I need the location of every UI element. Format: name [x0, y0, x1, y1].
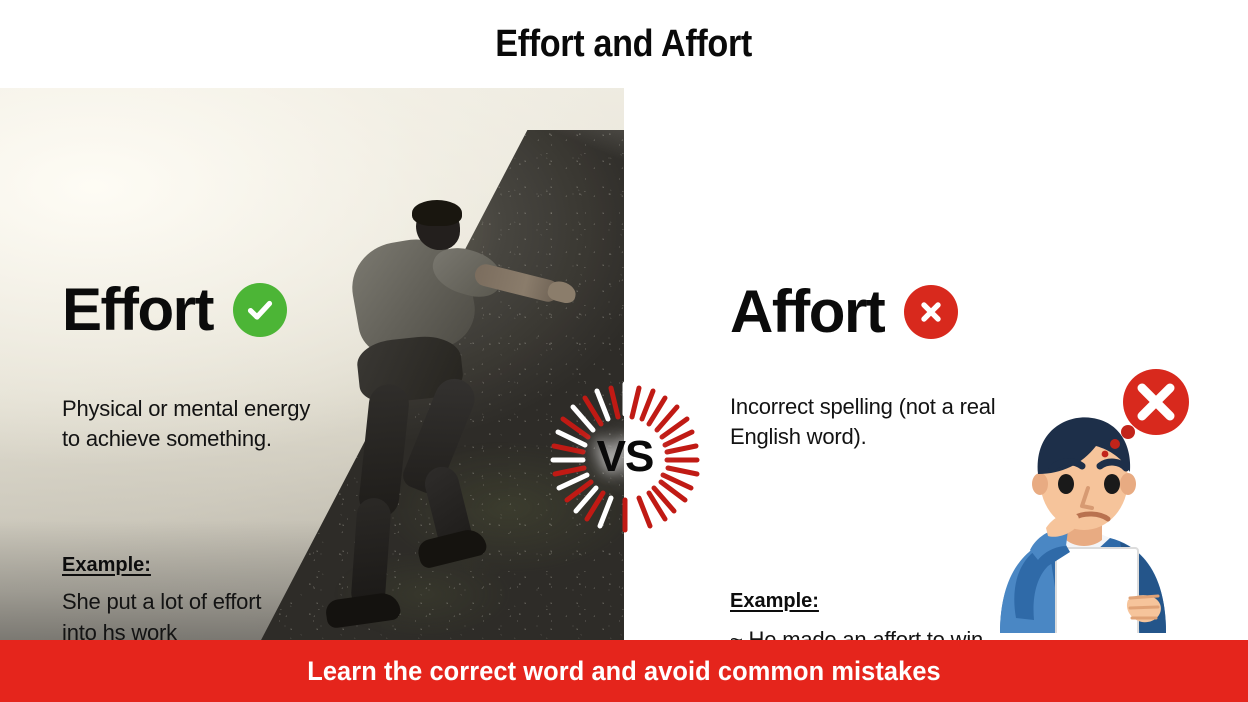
- climber-hair: [412, 200, 462, 226]
- red-x-circle-icon: [904, 285, 958, 339]
- red-x-thought-bubble-icon: [1098, 364, 1198, 460]
- left-example-label: Example:: [62, 552, 151, 578]
- footer-text: Learn the correct word and avoid common …: [307, 656, 941, 687]
- footer-banner: Learn the correct word and avoid common …: [0, 640, 1248, 702]
- left-word-row: Effort: [62, 280, 287, 340]
- left-definition: Physical or mental energy to achieve som…: [62, 394, 362, 454]
- left-example-text: She put a lot of effort into hs work: [62, 586, 352, 648]
- right-word-row: Affort: [730, 282, 958, 342]
- comparison-area: Effort Physical or mental energy to achi…: [0, 88, 1248, 640]
- page-title: Effort and Affort: [496, 23, 753, 66]
- climber-front-shoe: [416, 526, 489, 570]
- right-word: Affort: [730, 282, 884, 342]
- green-check-circle-icon: [233, 283, 287, 337]
- slide-canvas: Effort and Affort: [0, 0, 1248, 702]
- left-word: Effort: [62, 280, 213, 340]
- header-bar: Effort and Affort: [0, 0, 1248, 88]
- vs-label: VS: [542, 374, 708, 540]
- right-example-label: Example:: [730, 588, 819, 614]
